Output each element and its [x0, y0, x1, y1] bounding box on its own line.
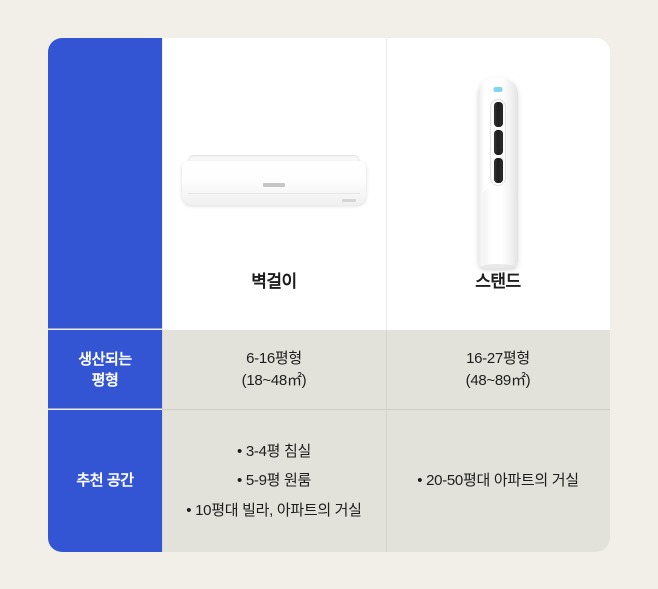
wall-unit-body	[182, 161, 366, 205]
wall-unit-badge	[342, 199, 356, 202]
vent-segment	[494, 102, 503, 127]
cell-size-wall-mounted: 6-16평형 (18~48㎡)	[162, 330, 386, 410]
list-item: 3-4평 침실	[186, 437, 361, 466]
list-item: 5-9평 원룸	[186, 466, 361, 495]
size-metric-wall-mounted: (18~48㎡)	[242, 370, 307, 393]
size-metric-stand: (48~89㎡)	[466, 370, 531, 393]
space-list-stand: 20-50평대 아파트의 거실	[417, 466, 578, 495]
size-range-wall-mounted: 6-16평형	[246, 348, 302, 371]
cell-size-stand: 16-27평형 (48~89㎡)	[386, 330, 610, 410]
size-range-stand: 16-27평형	[466, 348, 530, 371]
product-header-stand: 스탠드	[386, 38, 610, 330]
stand-air-conditioner-image	[478, 78, 518, 268]
wall-unit-seam-lower	[192, 205, 356, 206]
row-label-recommended-space-text: 추천 공간	[76, 470, 133, 491]
vent-segment	[494, 130, 503, 155]
product-name-wall-mounted: 벽걸이	[162, 267, 386, 292]
stand-unit-front-panel	[483, 188, 513, 268]
label-cell-header	[48, 38, 162, 330]
stand-unit-vent	[491, 100, 505, 185]
row-label-recommended-space: 추천 공간	[48, 410, 162, 552]
product-image-stage-wall	[162, 38, 386, 288]
row-label-produced-size-line1: 생산되는	[78, 351, 132, 368]
product-image-stage-stand	[386, 38, 610, 288]
row-label-produced-size-line2: 평형	[92, 372, 119, 389]
stand-unit-indicator-icon	[494, 87, 503, 92]
product-name-stand: 스탠드	[386, 267, 610, 292]
list-item: 10평대 빌라, 아파트의 거실	[186, 496, 361, 525]
comparison-page: 벽걸이 스탠드 생산되는	[0, 0, 658, 589]
wall-mounted-air-conditioner-image	[182, 155, 366, 207]
cell-spaces-stand: 20-50평대 아파트의 거실	[386, 410, 610, 552]
product-header-wall-mounted: 벽걸이	[162, 38, 386, 330]
vent-segment	[494, 158, 503, 183]
brand-logo-mark	[263, 183, 285, 187]
product-comparison-table: 벽걸이 스탠드 생산되는	[48, 38, 610, 552]
row-label-produced-size: 생산되는 평형	[48, 330, 162, 410]
wall-unit-seam-upper	[188, 193, 360, 194]
space-list-wall-mounted: 3-4평 침실 5-9평 원룸 10평대 빌라, 아파트의 거실	[186, 437, 361, 525]
cell-spaces-wall-mounted: 3-4평 침실 5-9평 원룸 10평대 빌라, 아파트의 거실	[162, 410, 386, 552]
list-item: 20-50평대 아파트의 거실	[417, 466, 578, 495]
